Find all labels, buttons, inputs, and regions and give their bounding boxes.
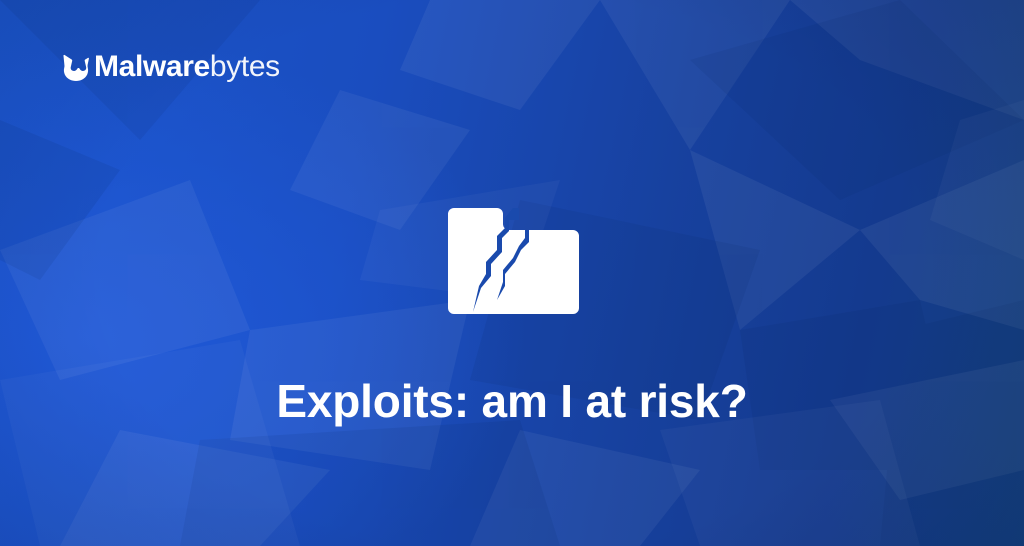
logo-word-light: bytes: [210, 50, 280, 83]
malwarebytes-wordmark: Malwarebytes: [94, 52, 280, 82]
malwarebytes-hero-banner: Malwarebytes Exploits: am I at risk?: [0, 0, 1024, 546]
page-title: Exploits: am I at risk?: [0, 378, 1024, 424]
logo-word-bold: Malware: [94, 50, 210, 83]
cracked-folder-glyph: [443, 208, 579, 314]
malwarebytes-m-icon: [62, 54, 90, 82]
malwarebytes-logo[interactable]: Malwarebytes: [62, 47, 280, 87]
cracked-folder-icon: [443, 208, 579, 314]
